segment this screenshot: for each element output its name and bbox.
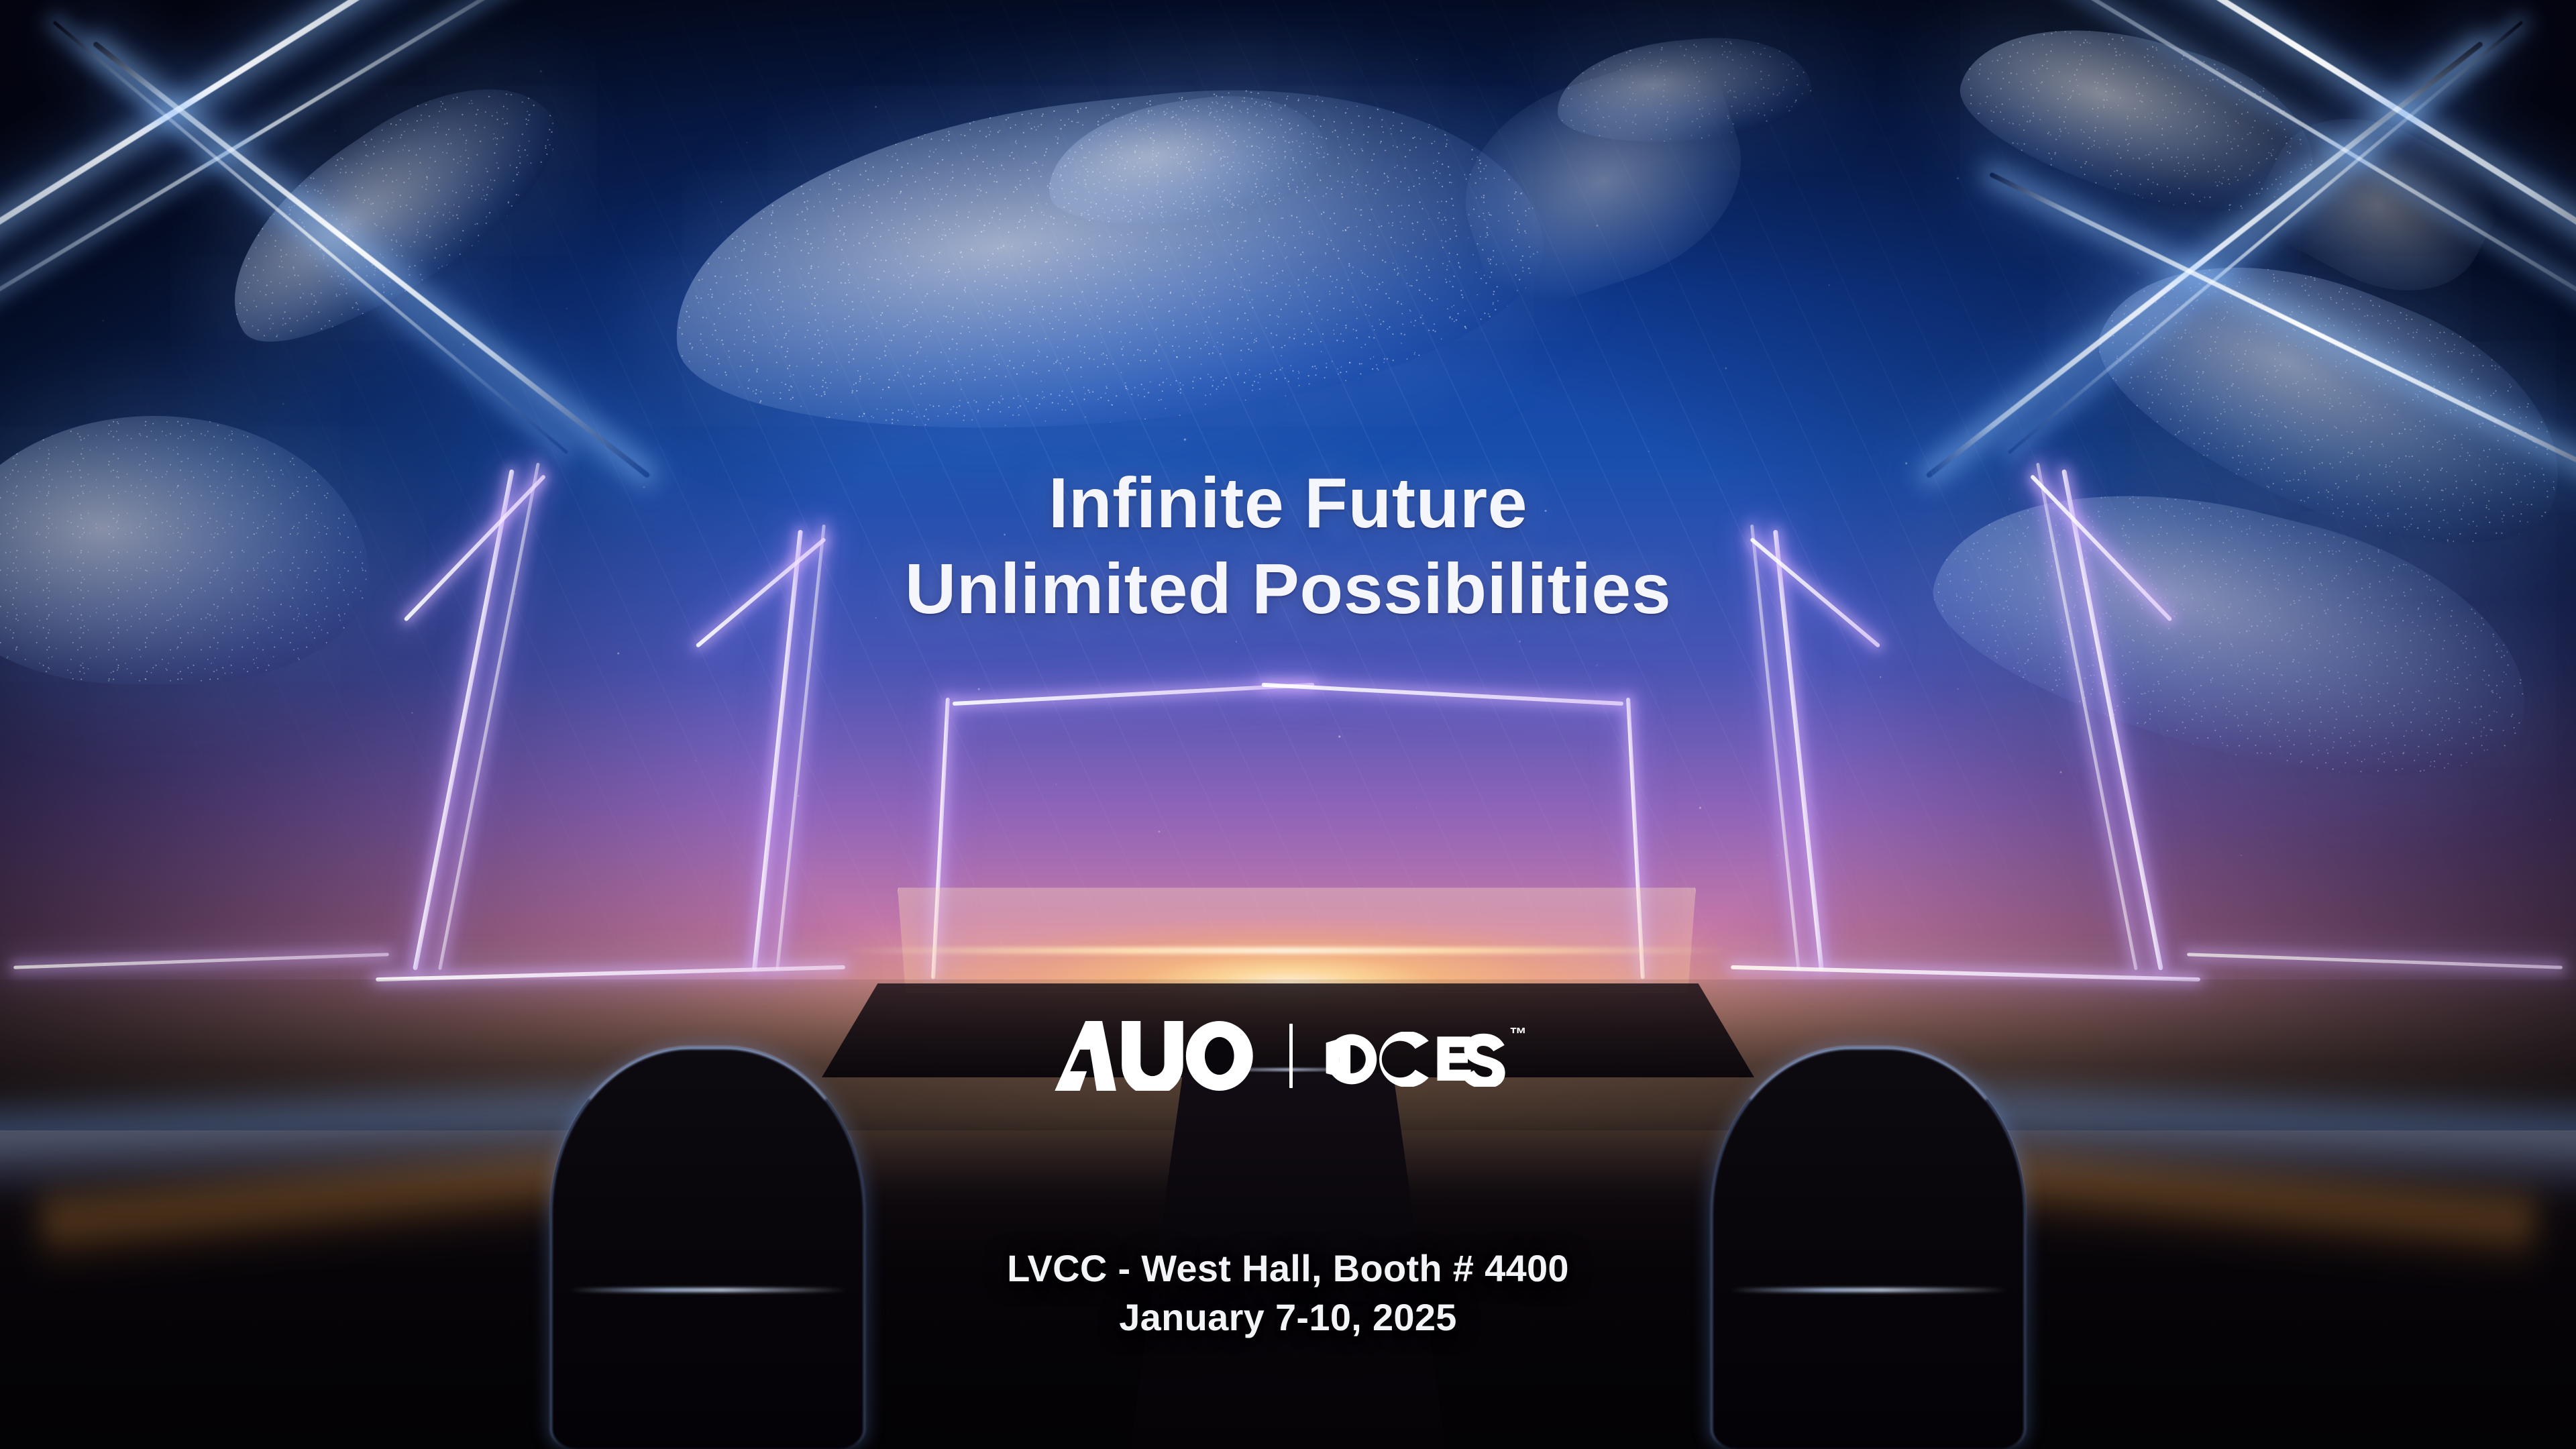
auo-logo xyxy=(1049,1021,1258,1091)
corner-shadow-right xyxy=(2009,0,2576,492)
logo-divider xyxy=(1289,1024,1293,1088)
headline-line-1: Infinite Future xyxy=(0,460,2576,546)
headline-line-2: Unlimited Possibilities xyxy=(0,546,2576,632)
trademark-symbol: ™ xyxy=(1509,1025,1527,1042)
venue-text: LVCC - West Hall, Booth # 4400 xyxy=(0,1244,2576,1293)
footer-block: LVCC - West Hall, Booth # 4400 January 7… xyxy=(0,1244,2576,1342)
dates-text: January 7-10, 2025 xyxy=(0,1293,2576,1342)
ces-logo xyxy=(1324,1032,1507,1087)
logo-lockup: ™ xyxy=(0,1021,2576,1091)
poster-canvas: Infinite Future Unlimited Possibilities xyxy=(0,0,2576,1449)
headline-block: Infinite Future Unlimited Possibilities xyxy=(0,460,2576,633)
ces-logo-wrap: ™ xyxy=(1324,1025,1527,1087)
corner-shadow-left xyxy=(0,0,567,492)
